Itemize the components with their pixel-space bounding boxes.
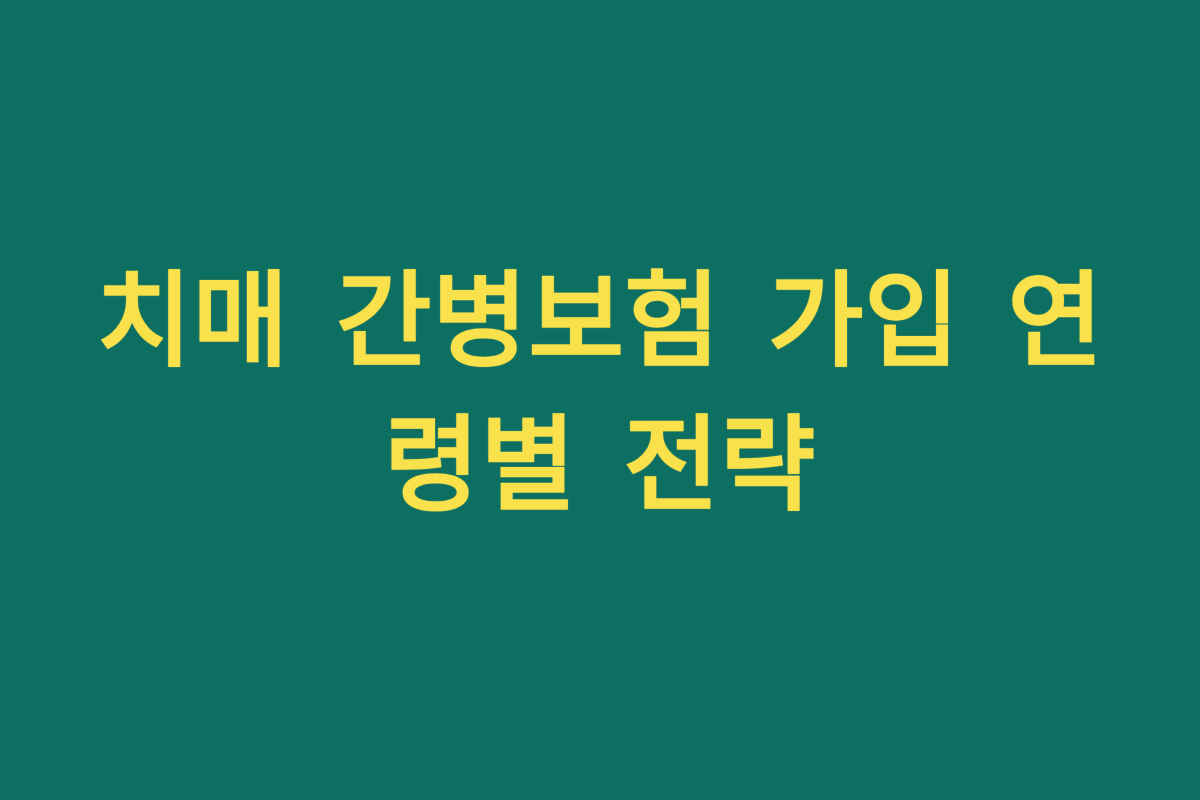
banner-headline: 치매 간병보험 가입 연령별 전략 (80, 250, 1120, 537)
headline-block: 치매 간병보험 가입 연령별 전략 (80, 250, 1120, 537)
title-banner: 치매 간병보험 가입 연령별 전략 (0, 0, 1200, 800)
